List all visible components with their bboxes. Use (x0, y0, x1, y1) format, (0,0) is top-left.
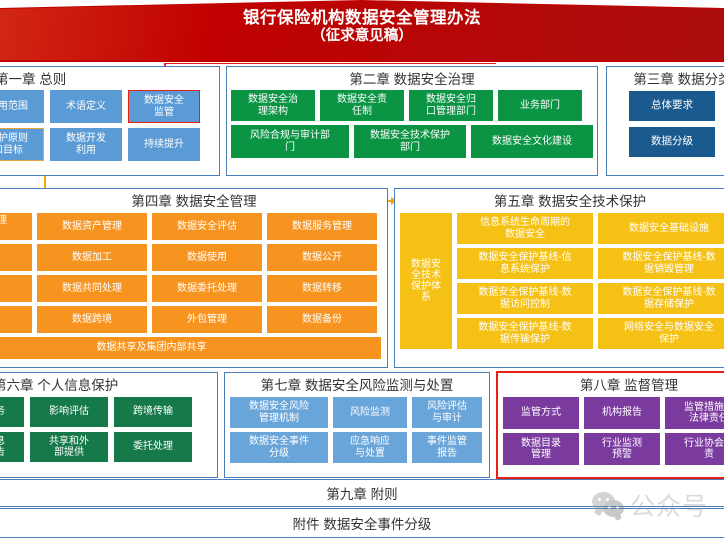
item-label: 风险评估 与审计 (427, 401, 467, 423)
item-label: 数据使用 (187, 252, 227, 263)
item-label: 共享和外 部提供 (49, 436, 89, 458)
item-label: 个人信息 风险报告 (0, 436, 5, 458)
item-label: 数据安全保护基线-数 据存储保护 (622, 287, 715, 309)
item-label: 数据安全事件 分级 (249, 436, 309, 458)
item-label: 数据开发 利用 (66, 133, 106, 155)
chapter-7-item[interactable]: 事件监管 报告 (412, 432, 482, 463)
item-label: 网络安全与数据安全 保护 (624, 322, 714, 344)
chapter-5-body: 数据安 全技术 保护体 系 信息系统生命周期的 数据安全 数据安全保护基线-信 … (395, 210, 724, 349)
chapter-1-item-highlighted[interactable]: 数据安全 监管 (128, 90, 200, 123)
chapter-3-panel: 第三章 数据分类分级 总体要求 数据分级 (606, 66, 724, 176)
chapter-5-item[interactable]: 数据安全保护基线-数 据销毁管理 (598, 248, 724, 279)
chapter-4-item[interactable]: 数据备份 (267, 306, 377, 333)
chapter-7-item[interactable]: 数据安全事件 分级 (230, 432, 328, 463)
chapter-4-item[interactable]: 外包管理 (152, 306, 262, 333)
chapter-5-column-right: 数据安全基础设施 数据安全保护基线-数 据销毁管理 数据安全保护基线-数 据存储… (598, 213, 724, 349)
chapter-7-item[interactable]: 应急响应 与处置 (333, 432, 407, 463)
item-label: 信息系统生命周期的 数据安全 (480, 217, 570, 239)
chapter-2-item[interactable]: 风险合规与审计部 门 (231, 125, 349, 158)
item-label: 持续提升 (144, 139, 184, 150)
item-label: 数据服务管理 (292, 221, 352, 232)
chapter-5-panel: 第五章 数据安全技术保护 数据安 全技术 保护体 系 信息系统生命周期的 数据安… (394, 188, 724, 368)
item-label: 跨境传输 (133, 406, 173, 417)
item-label: 数据安全归 口管理部门 (426, 94, 476, 116)
chapter-4-item[interactable]: 数据转移 (267, 275, 377, 302)
chapter-8-title: 第八章 监督管理 (498, 373, 724, 394)
chapter-1-items: 适用范围 术语定义 数据安全 监管 保护原则 和目标 数据开发 利用 持续提升 (0, 88, 219, 163)
chapter-2-items-row1: 数据安全治 理架构 数据安全责 任制 数据安全归 口管理部门 业务部门 (227, 88, 597, 121)
item-label: 保护原则 和目标 (0, 133, 28, 155)
item-label: 影响评估 (49, 406, 89, 417)
chapter-8-item[interactable]: 监管方式 (503, 397, 579, 429)
item-label: 数据共同处理 (62, 283, 122, 294)
chapter-4-items: 数据安全管理 总体要求 数据资产管理 数据安全评估 数据服务管理 数据采集 数据… (0, 210, 387, 359)
chapter-2-item[interactable]: 数据安全技术保护 部门 (354, 125, 466, 158)
item-label: 数据公开 (302, 252, 342, 263)
item-label: 行业协会职 责 (684, 438, 724, 460)
item-label: 数据目录 管理 (521, 438, 561, 460)
chapter-6-item[interactable]: 共享和外 部提供 (30, 432, 108, 462)
item-label: 数据安全保护基线-数 据访问控制 (478, 287, 571, 309)
chapter-8-item[interactable]: 行业协会职 责 (665, 433, 724, 465)
chapter-7-items: 数据安全风险 管理机制 风险监测 风险评估 与审计 数据安全事件 分级 应急响应… (225, 394, 489, 463)
chapter-4-item[interactable]: 数据销毁 (0, 306, 32, 333)
chapter-1-item-highlighted[interactable]: 保护原则 和目标 (0, 128, 44, 161)
chapter-4-item[interactable]: 数据资产管理 (37, 213, 147, 240)
item-label: 数据安 全技术 保护体 系 (411, 259, 441, 304)
chapter-2-item[interactable]: 数据安全治 理架构 (231, 90, 315, 121)
banner-title-block: 银行保险机构数据安全管理办法 （征求意见稿） (0, 9, 724, 46)
chapter-6-item[interactable]: 影响评估 (30, 397, 108, 427)
item-label: 数据安全 监管 (144, 95, 184, 117)
item-label: 术语定义 (66, 101, 106, 112)
item-label: 数据安全责 任制 (337, 94, 387, 116)
chapter-2-item[interactable]: 业务部门 (498, 90, 582, 121)
chapter-2-item[interactable]: 数据安全责 任制 (320, 90, 404, 121)
chapter-5-column-left: 信息系统生命周期的 数据安全 数据安全保护基线-信 息系统保护 数据安全保护基线… (457, 213, 593, 349)
chapter-4-item[interactable]: 数据公开 (267, 244, 377, 271)
item-label: 数据安全风险 管理机制 (249, 401, 309, 423)
item-label: 委托处理 (133, 441, 173, 452)
chapter-6-title: 第六章 个人信息保护 (0, 373, 217, 394)
connector-red-horizontal (164, 63, 496, 65)
item-label: 机构报告 (602, 407, 642, 418)
chapter-6-item[interactable]: 告知义务 (0, 397, 24, 427)
chapter-5-item[interactable]: 数据安全保护基线-数 据访问控制 (457, 283, 593, 314)
chapter-6-items: 告知义务 影响评估 跨境传输 个人信息 风险报告 共享和外 部提供 委托处理 (0, 394, 217, 462)
item-label: 风险合规与审计部 门 (250, 130, 330, 152)
item-label: 数据加工 (72, 252, 112, 263)
title-banner: 银行保险机构数据安全管理办法 （征求意见稿） (0, 0, 724, 60)
item-label: 数据安全评估 (177, 221, 237, 232)
chapter-7-item[interactable]: 风险监测 (333, 397, 407, 428)
chapter-5-item[interactable]: 数据安全保护基线-数 据传输保护 (457, 318, 593, 349)
chapter-4-item[interactable]: 数据安全评估 (152, 213, 262, 240)
banner-title-line1: 银行保险机构数据安全管理办法 (0, 9, 724, 28)
item-label: 数据安全保护基线-信 息系统保护 (478, 252, 571, 274)
item-label: 数据委托处理 (177, 283, 237, 294)
chapter-4-panel: 第四章 数据安全管理 数据安全管理 总体要求 数据资产管理 数据安全评估 数据服… (0, 188, 388, 368)
item-label: 数据跨境 (72, 314, 112, 325)
chapter-6-item[interactable]: 跨境传输 (114, 397, 192, 427)
chapter-6-panel: 第六章 个人信息保护 告知义务 影响评估 跨境传输 个人信息 风险报告 共享和外… (0, 372, 218, 478)
chapter-4-title: 第四章 数据安全管理 (0, 189, 387, 210)
item-label: 数据转移 (302, 283, 342, 294)
chapter-5-side-item[interactable]: 数据安 全技术 保护体 系 (400, 213, 452, 349)
chapter-4-item[interactable]: 数据共同处理 (37, 275, 147, 302)
item-label: 数据安全治 理架构 (248, 94, 298, 116)
banner-title-line2: （征求意见稿） (0, 28, 724, 45)
chapter-5-item[interactable]: 信息系统生命周期的 数据安全 (457, 213, 593, 244)
item-label: 外包管理 (187, 314, 227, 325)
appendix-label: 附件 数据安全事件分级 (293, 513, 432, 533)
chapter-1-item[interactable]: 适用范围 (0, 90, 44, 123)
chapter-2-title: 第二章 数据安全治理 (227, 67, 597, 88)
item-label: 监管方式 (521, 407, 561, 418)
item-label: 数据共享及集团内部共享 (97, 342, 207, 353)
chapter-2-panel: 第二章 数据安全治理 数据安全治 理架构 数据安全责 任制 数据安全归 口管理部… (226, 66, 598, 176)
chapter-3-title: 第三章 数据分类分级 (607, 67, 724, 88)
chapter-7-title: 第七章 数据安全风险监测与处置 (225, 373, 489, 394)
chapter-2-items-row2: 风险合规与审计部 门 数据安全技术保护 部门 数据安全文化建设 (227, 121, 597, 158)
chapter-8-panel: 第八章 监督管理 监管方式 机构报告 监管措施与 法律责任 数据目录 管理 行业… (496, 371, 724, 479)
chapter-5-item[interactable]: 数据安全保护基线-信 息系统保护 (457, 248, 593, 279)
item-label: 应急响应 与处置 (350, 436, 390, 458)
chapter-4-item[interactable]: 数据加工 (37, 244, 147, 271)
chapter-7-item[interactable]: 风险评估 与审计 (412, 397, 482, 428)
chapter-2-item[interactable]: 数据安全归 口管理部门 (409, 90, 493, 121)
chapter-1-title: 第一章 总则 (0, 67, 219, 88)
chapter-4-item[interactable]: 数据采集 (0, 244, 32, 271)
item-label: 行业监测 预警 (602, 438, 642, 460)
chapter-1-item[interactable]: 持续提升 (128, 128, 200, 161)
chapter-1-panel: 第一章 总则 适用范围 术语定义 数据安全 监管 保护原则 和目标 数据开发 利… (0, 66, 220, 176)
chapter-4-item-wide[interactable]: 数据共享及集团内部共享 (0, 337, 381, 359)
chapter-8-items: 监管方式 机构报告 监管措施与 法律责任 数据目录 管理 行业监测 预警 行业协… (498, 394, 724, 465)
chapter-8-item[interactable]: 行业监测 预警 (584, 433, 660, 465)
appendix-bar: 附件 数据安全事件分级 (0, 508, 724, 538)
chapter-9-label: 第九章 附则 (326, 483, 397, 503)
chapter-8-item[interactable]: 监管措施与 法律责任 (665, 397, 724, 429)
chapter-2-item[interactable]: 数据安全文化建设 (471, 125, 593, 158)
item-label: 总体要求 (651, 100, 693, 112)
chapter-1-item[interactable]: 数据开发 利用 (50, 128, 122, 161)
chapter-7-item[interactable]: 数据安全风险 管理机制 (230, 397, 328, 428)
chapter-4-item[interactable]: 数据使用 (152, 244, 262, 271)
item-label: 数据安全管理 总体要求 (0, 215, 7, 237)
chapter-3-items: 总体要求 数据分级 (607, 88, 724, 157)
chapter-8-item[interactable]: 机构报告 (584, 397, 660, 429)
item-label: 告知义务 (0, 406, 5, 417)
chapter-3-item[interactable]: 总体要求 (629, 91, 715, 121)
chapter-9-bar: 第九章 附则 (0, 479, 724, 507)
item-label: 数据分级 (651, 136, 693, 148)
chapter-5-title: 第五章 数据安全技术保护 (395, 189, 724, 210)
item-label: 数据安全技术保护 部门 (370, 130, 450, 152)
chapter-4-item[interactable]: 数据服务管理 (267, 213, 377, 240)
chapter-6-item[interactable]: 个人信息 风险报告 (0, 432, 24, 462)
chapter-5-item[interactable]: 网络安全与数据安全 保护 (598, 318, 724, 349)
item-label: 适用范围 (0, 101, 28, 112)
chapter-7-panel: 第七章 数据安全风险监测与处置 数据安全风险 管理机制 风险监测 风险评估 与审… (224, 372, 490, 478)
item-label: 监管措施与 法律责任 (684, 402, 724, 424)
item-label: 业务部门 (520, 100, 560, 111)
chapter-6-item[interactable]: 委托处理 (114, 432, 192, 462)
chapter-8-item[interactable]: 数据目录 管理 (503, 433, 579, 465)
item-label: 数据安全保护基线-数 据销毁管理 (622, 252, 715, 274)
chapter-4-item[interactable]: 数据跨境 (37, 306, 147, 333)
chapter-4-item[interactable]: 数据传输 (0, 275, 32, 302)
chapter-5-item[interactable]: 数据安全保护基线-数 据存储保护 (598, 283, 724, 314)
chapter-3-item[interactable]: 数据分级 (629, 127, 715, 157)
item-label: 事件监管 报告 (427, 436, 467, 458)
item-label: 数据安全基础设施 (629, 223, 709, 234)
chapter-4-item[interactable]: 数据安全管理 总体要求 (0, 213, 32, 240)
chapter-5-item[interactable]: 数据安全基础设施 (598, 213, 724, 244)
item-label: 数据备份 (302, 314, 342, 325)
item-label: 数据资产管理 (62, 221, 122, 232)
chapter-4-item[interactable]: 数据委托处理 (152, 275, 262, 302)
item-label: 风险监测 (350, 407, 390, 418)
item-label: 数据安全文化建设 (492, 136, 572, 147)
chapter-1-item[interactable]: 术语定义 (50, 90, 122, 123)
item-label: 数据安全保护基线-数 据传输保护 (478, 322, 571, 344)
